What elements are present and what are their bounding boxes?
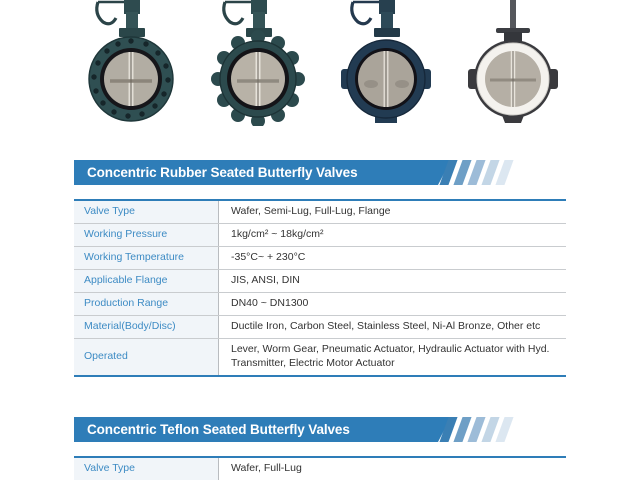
section-header-teflon-seated: Concentric Teflon Seated Butterfly Valve… [74,417,566,442]
full-lug-valve-icon [199,0,317,126]
spec-label: Working Temperature [74,246,219,269]
spec-label: Operated [74,338,219,375]
section-header-bar: Concentric Teflon Seated Butterfly Valve… [74,417,438,442]
spec-value: Wafer, Semi-Lug, Full-Lug, Flange [219,200,567,223]
valve-image-full-lug [199,0,317,126]
section-header-rubber-seated: Concentric Rubber Seated Butterfly Valve… [74,160,566,185]
section-title: Concentric Teflon Seated Butterfly Valve… [74,422,350,437]
double-flanged-valve-icon [72,0,190,126]
spec-label: Material(Body/Disc) [74,315,219,338]
spec-value: Lever, Worm Gear, Pneumatic Actuator, Hy… [219,338,567,375]
spec-table-teflon-seated: Valve Type Wafer, Full-Lug [74,456,566,480]
section-rubber-seated: Concentric Rubber Seated Butterfly Valve… [74,160,566,377]
valve-image-teflon-seated [454,0,572,126]
spec-value: Ductile Iron, Carbon Steel, Stainless St… [219,315,567,338]
section-teflon-seated: Concentric Teflon Seated Butterfly Valve… [74,417,566,480]
table-row: Working Temperature -35°C~ + 230°C [74,246,566,269]
table-row: Valve Type Wafer, Full-Lug [74,457,566,480]
section-header-bar: Concentric Rubber Seated Butterfly Valve… [74,160,438,185]
spec-label: Working Pressure [74,223,219,246]
valve-image-double-flanged [72,0,190,126]
table-row: Valve Type Wafer, Semi-Lug, Full-Lug, Fl… [74,200,566,223]
spec-value: JIS, ANSI, DIN [219,269,567,292]
spec-label: Applicable Flange [74,269,219,292]
spec-value: -35°C~ + 230°C [219,246,567,269]
spec-value: Wafer, Full-Lug [219,457,567,480]
spec-label: Production Range [74,292,219,315]
spec-value: DN40 ~ DN1300 [219,292,567,315]
spec-label: Valve Type [74,457,219,480]
valve-image-wafer [327,0,445,126]
slash-decoration [444,160,554,185]
table-row: Applicable Flange JIS, ANSI, DIN [74,269,566,292]
table-row: Material(Body/Disc) Ductile Iron, Carbon… [74,315,566,338]
slash-decoration [444,417,554,442]
table-row: Production Range DN40 ~ DN1300 [74,292,566,315]
spec-value: 1kg/cm² ~ 18kg/cm² [219,223,567,246]
table-row: Operated Lever, Worm Gear, Pneumatic Act… [74,338,566,375]
spec-label: Valve Type [74,200,219,223]
table-row: Working Pressure 1kg/cm² ~ 18kg/cm² [74,223,566,246]
wafer-valve-icon [327,0,445,126]
teflon-seated-valve-icon [454,0,572,126]
catalog-page: Concentric Rubber Seated Butterfly Valve… [0,0,640,480]
product-image-strip [72,0,572,128]
spec-table-rubber-seated: Valve Type Wafer, Semi-Lug, Full-Lug, Fl… [74,199,566,377]
section-title: Concentric Rubber Seated Butterfly Valve… [74,165,357,180]
